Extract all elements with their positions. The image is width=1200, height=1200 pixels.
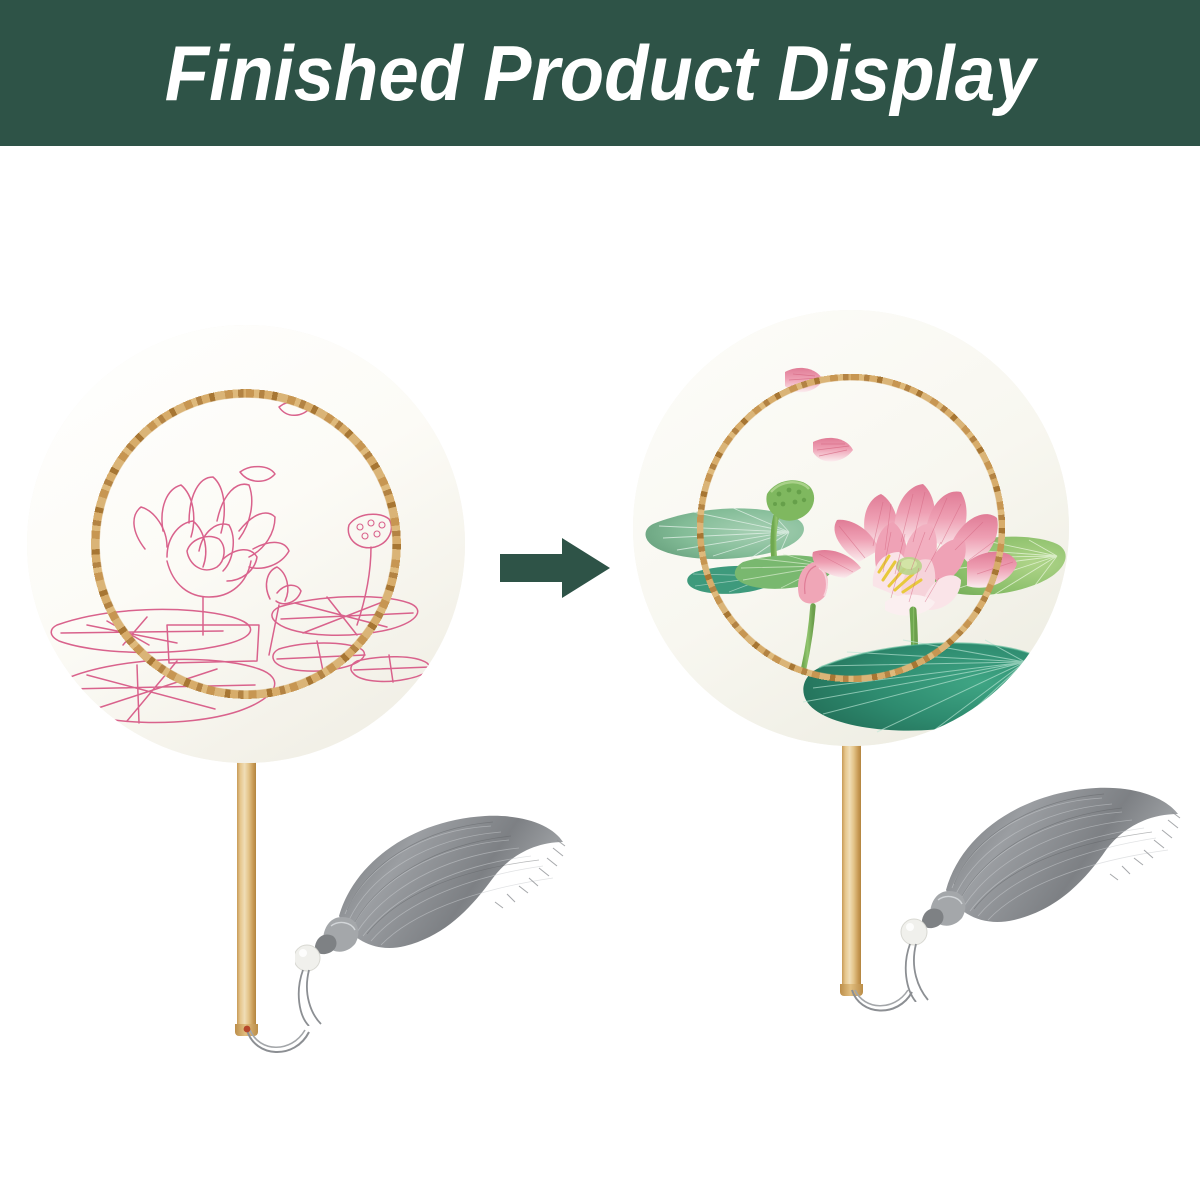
header-banner: Finished Product Display <box>0 0 1200 146</box>
fan-handle-before <box>237 721 256 1031</box>
fan-face-before <box>27 325 465 763</box>
fan-tassel-after[interactable] <box>898 762 1188 1002</box>
product-fan-before[interactable] <box>0 146 520 1200</box>
product-comparison-stage <box>0 146 1200 1200</box>
fan-face-after <box>633 310 1069 746</box>
process-arrow <box>500 536 610 600</box>
lotus-embroidery-art <box>633 310 1069 746</box>
fan-tassel-before[interactable] <box>295 786 575 1026</box>
product-fan-after[interactable] <box>610 146 1170 1200</box>
lotus-pattern-outline-art <box>27 325 465 763</box>
page-title: Finished Product Display <box>165 28 1036 119</box>
